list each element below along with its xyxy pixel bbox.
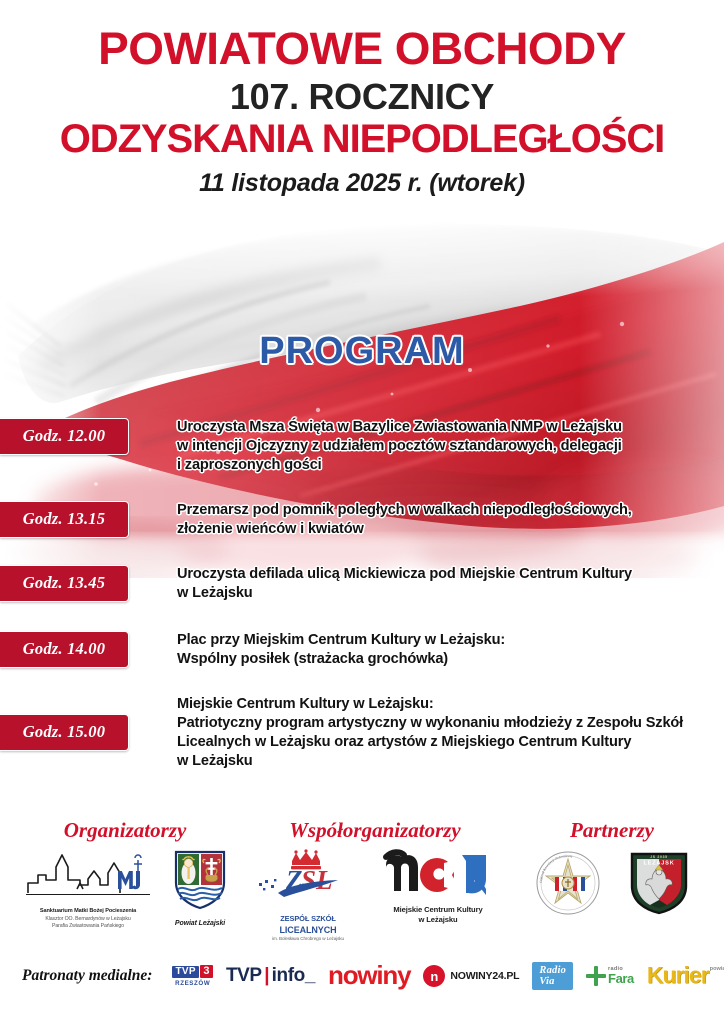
program-row: Godz. 15.00 Miejskie Centrum Kultury w L… <box>0 695 724 771</box>
mck-caption-line3: w Leżajsku <box>382 915 494 925</box>
tvp3-wordmark: TVP 3 <box>172 965 212 978</box>
mck-caption: Miejskie Centrum Kultury w Leżajsku <box>382 905 494 926</box>
zsl-logo: Z S L ZESPÓŁ SZKÓŁ L <box>256 849 360 942</box>
lezajsk-military-shield-logo: LEŻAJSK JS 2035 <box>628 850 690 921</box>
tvp3-text: TVP <box>172 966 198 978</box>
radio-via-logo: Radio Via <box>532 962 573 990</box>
program-description: Uroczysta Msza Święta w Bazylice Zwiasto… <box>129 418 724 475</box>
program-time-badge: Godz. 14.00 <box>0 631 129 668</box>
program-time-badge: Godz. 12.00 <box>0 418 129 455</box>
program-description: Miejskie Centrum Kultury w Leżajsku: Pat… <box>129 695 724 771</box>
program-schedule: Godz. 12.00 Uroczysta Msza Święta w Bazy… <box>0 418 724 777</box>
program-description: Plac przy Miejskim Centrum Kultury w Leż… <box>129 631 724 669</box>
program-time-badge: Godz. 13.15 <box>0 501 129 538</box>
poster-root: POWIATOWE OBCHODY 107. ROCZNICY ODZYSKAN… <box>0 0 724 1024</box>
radio-fara-wordmark: radio Fara <box>608 967 634 986</box>
cross-icon <box>586 966 606 986</box>
order-of-cavalry-logo: Oddział Kawalerii Ochotniczej <box>534 849 602 922</box>
lezajsk-shield-label: LEŻAJSK <box>643 860 674 867</box>
svg-text:L: L <box>315 865 333 895</box>
event-date: 11 listopada 2025 r. (wtorek) <box>0 169 724 198</box>
program-time-badge: Godz. 15.00 <box>0 714 129 751</box>
program-time-badge: Godz. 13.45 <box>0 565 129 602</box>
media-logo-list: TVP 3 RZESZÓW TVP | info _ nowiny n NOWI… <box>172 962 724 990</box>
zsl-caption: ZESPÓŁ SZKÓŁ LICEALNYCH im. Bolesława Ch… <box>256 914 360 942</box>
sanktuarium-caption-line1: Sanktuarium Matki Bożej Pocieszenia <box>22 908 154 916</box>
tvp-info-logo: TVP | info _ <box>226 965 315 987</box>
nowiny-logo: nowiny <box>328 964 410 987</box>
zsl-caption-line2: ZESPÓŁ SZKÓŁ <box>256 914 360 924</box>
poster-header: POWIATOWE OBCHODY 107. ROCZNICY ODZYSKAN… <box>0 0 724 198</box>
program-description: Uroczysta defilada ulicą Mickiewicza pod… <box>129 565 724 603</box>
program-row: Godz. 14.00 Plac przy Miejskim Centrum K… <box>0 631 724 669</box>
sponsors-section: Organizatorzy Współorganizatorzy Partner… <box>0 818 724 942</box>
tvp-info-word: info <box>272 965 305 987</box>
media-patronage-label: Patronaty medialne: <box>22 967 152 985</box>
mck-caption-line2: Miejskie Centrum Kultury <box>382 905 494 915</box>
sanktuarium-caption-line3: Parafia Zwiastowania Pańskiego <box>22 923 154 930</box>
partners-title: Partnerzy <box>500 818 724 843</box>
sponsor-section-titles: Organizatorzy Współorganizatorzy Partner… <box>0 818 724 843</box>
tvp-info-underscore: _ <box>305 965 315 987</box>
title-line-2: 107. ROCZNICY <box>0 78 724 116</box>
coorganizers-logo-group: Z S L ZESPÓŁ SZKÓŁ L <box>250 849 500 942</box>
organizers-title: Organizatorzy <box>0 818 250 843</box>
partners-logo-group: Oddział Kawalerii Ochotniczej <box>500 849 724 922</box>
zsl-caption-line4: im. Bolesława Chrobrego w Leżajsku <box>256 936 360 942</box>
radio-fara-big: Fara <box>608 972 634 985</box>
tvp-info-bar: | <box>264 965 269 987</box>
tvp3-rzeszow-logo: TVP 3 RZESZÓW <box>172 965 212 987</box>
svg-text:JS 2035: JS 2035 <box>650 855 668 859</box>
zsl-caption-line3: LICEALNYCH <box>256 924 360 936</box>
tvp3-channel-number: 3 <box>200 965 213 978</box>
sanktuarium-caption: Sanktuarium Matki Bożej Pocieszenia Klas… <box>22 908 154 930</box>
kurier-powiatowy-logo: Kurier powiatowy <box>647 965 724 987</box>
sanktuarium-caption-line2: Klasztor OO. Bernardynów w Leżajsku <box>22 916 154 923</box>
program-description: Przemarsz pod pomnik poległych w walkach… <box>129 501 724 539</box>
sponsor-logos: Sanktuarium Matki Bożej Pocieszenia Klas… <box>0 849 724 942</box>
nowiny24-text: NOWINY24.PL <box>450 970 519 982</box>
radio-fara-logo: radio Fara <box>586 966 634 986</box>
powiat-lezajski-caption: Powiat Leżajski <box>172 919 228 928</box>
program-row: Godz. 13.45 Uroczysta defilada ulicą Mic… <box>0 565 724 603</box>
powiat-lezajski-coat-of-arms: Powiat Leżajski <box>172 849 228 928</box>
tvp-info-tvp: TVP <box>226 965 262 987</box>
title-line-1: POWIATOWE OBCHODY <box>0 26 724 72</box>
tvp3-region: RZESZÓW <box>175 980 210 987</box>
media-patronage-bar: Patronaty medialne: TVP 3 RZESZÓW TVP | … <box>0 962 724 990</box>
organizers-logo-group: Sanktuarium Matki Bożej Pocieszenia Klas… <box>0 849 250 930</box>
kurier-text: Kurier <box>647 965 709 987</box>
nowiny24-mark: n <box>423 965 445 987</box>
program-row: Godz. 12.00 Uroczysta Msza Święta w Bazy… <box>0 418 724 475</box>
title-line-3: ODZYSKANIA NIEPODLEGŁOŚCI <box>0 118 724 160</box>
nowiny24-logo: n NOWINY24.PL <box>423 965 519 987</box>
program-heading: PROGRAM <box>0 330 724 373</box>
kurier-sub: powiatowy <box>710 966 724 972</box>
sanktuarium-logo: Sanktuarium Matki Bożej Pocieszenia Klas… <box>22 849 154 930</box>
mck-logo: Miejskie Centrum Kultury w Leżajsku <box>382 849 494 926</box>
coorganizers-title: Współorganizatorzy <box>250 818 500 843</box>
program-row: Godz. 13.15 Przemarsz pod pomnik poległy… <box>0 501 724 539</box>
